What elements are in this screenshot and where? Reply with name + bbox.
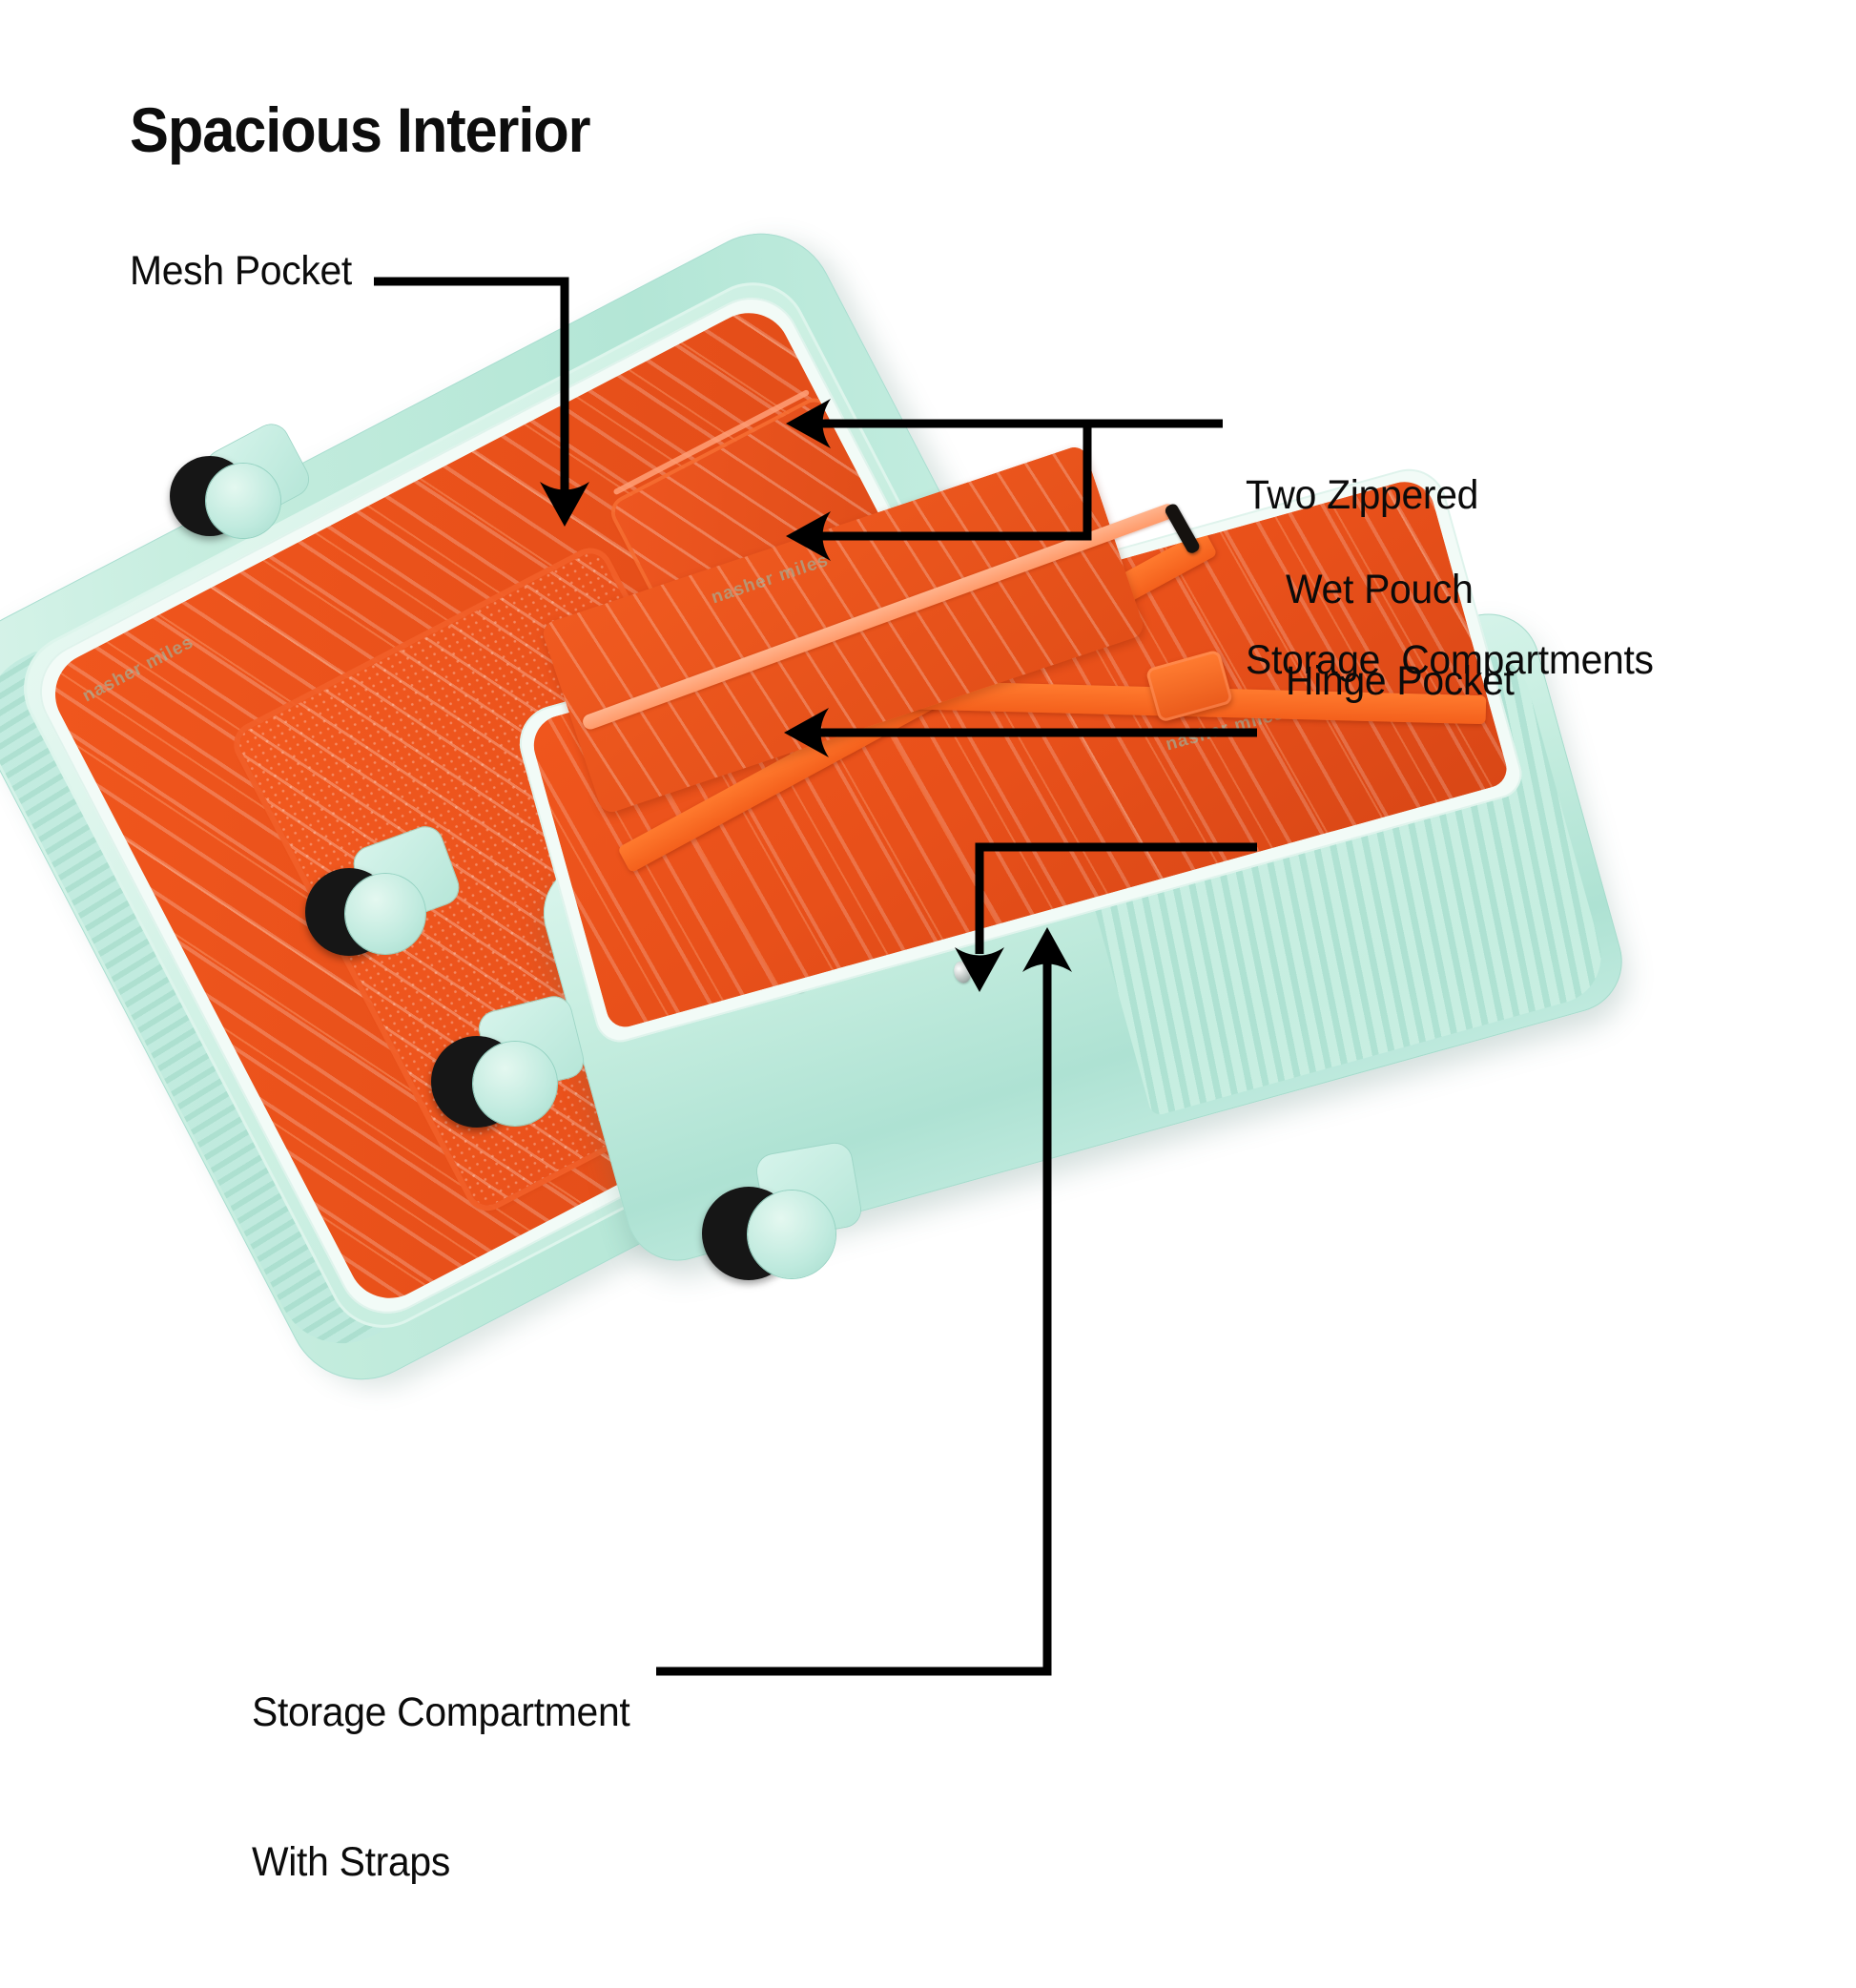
wheel-hub xyxy=(345,874,425,954)
wheel-hub xyxy=(473,1042,557,1126)
callout-label-line1: Two Zippered xyxy=(1246,470,1654,520)
wheel-hub xyxy=(206,464,280,538)
callout-label-mesh-pocket: Mesh Pocket xyxy=(130,246,352,296)
shell-rivet-2 xyxy=(952,960,974,985)
infographic-canvas: Spacious Interior nasher miles nasher mi… xyxy=(0,0,1856,1856)
callout-label-storage-compartment-with-straps: Storage Compartment With Straps xyxy=(252,1587,629,1988)
zipper-line-1 xyxy=(612,389,810,496)
callout-label-wet-pouch: Wet Pouch xyxy=(1286,565,1474,614)
wheel-hub xyxy=(748,1191,835,1278)
callout-label-line1: Storage Compartment xyxy=(252,1688,629,1737)
callout-label-hinge-pocket: Hinge Pocket xyxy=(1286,656,1515,706)
callout-label-line2: With Straps xyxy=(252,1837,629,1887)
